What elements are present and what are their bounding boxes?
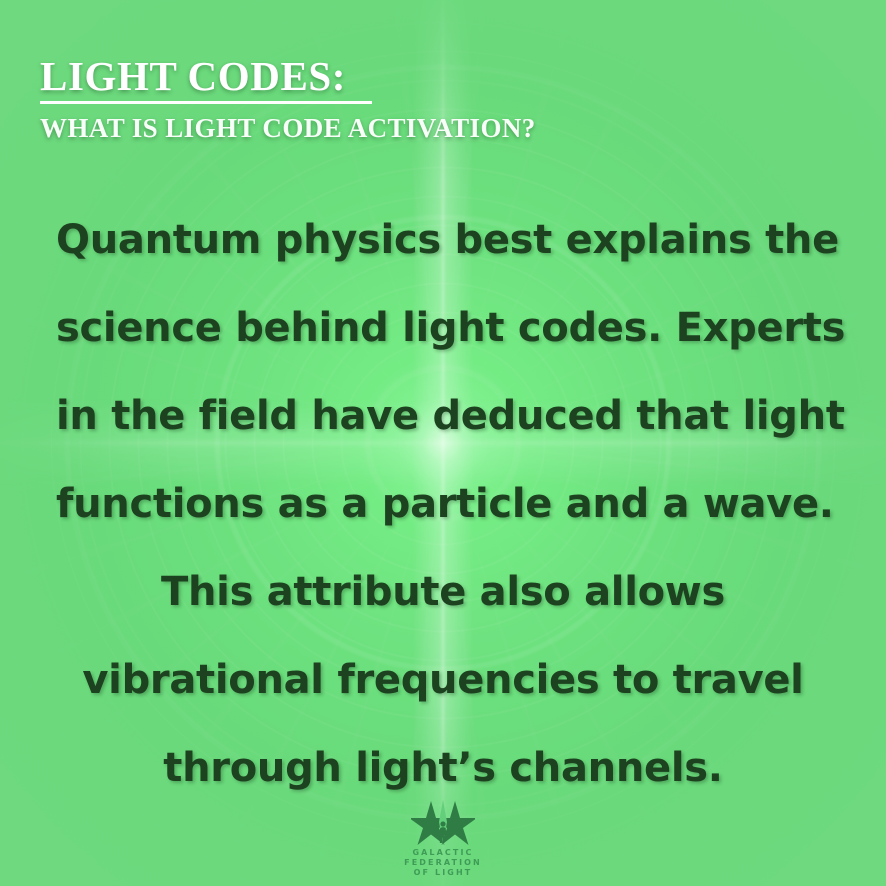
body-line: Quantum physics best explains the xyxy=(56,196,830,284)
page-title: LIGHT CODES: xyxy=(40,56,372,104)
poster-content: LIGHT CODES: WHAT IS LIGHT CODE ACTIVATI… xyxy=(0,0,886,886)
brand-logo: GALACTIC FEDERATION OF LIGHT xyxy=(0,799,886,878)
logo-word-line: GALACTIC xyxy=(412,848,473,858)
body-line: in the field have deduced that light xyxy=(56,372,830,460)
galactic-federation-star-icon xyxy=(411,799,475,845)
body-line: science behind light codes. Experts xyxy=(56,284,830,372)
body-line: vibrational frequencies to travel xyxy=(56,636,830,724)
page-subtitle: WHAT IS LIGHT CODE ACTIVATION? xyxy=(40,114,846,144)
logo-word-line: FEDERATION xyxy=(404,858,482,868)
logo-word-line: OF LIGHT xyxy=(414,868,473,878)
body-copy: Quantum physics best explains the scienc… xyxy=(56,196,830,812)
poster-header: LIGHT CODES: WHAT IS LIGHT CODE ACTIVATI… xyxy=(40,56,846,144)
body-line: This attribute also allows xyxy=(56,548,830,636)
body-line: functions as a particle and a wave. xyxy=(56,460,830,548)
logo-wordmark: GALACTIC FEDERATION OF LIGHT xyxy=(404,848,482,878)
light-codes-poster: LIGHT CODES: WHAT IS LIGHT CODE ACTIVATI… xyxy=(0,0,886,886)
